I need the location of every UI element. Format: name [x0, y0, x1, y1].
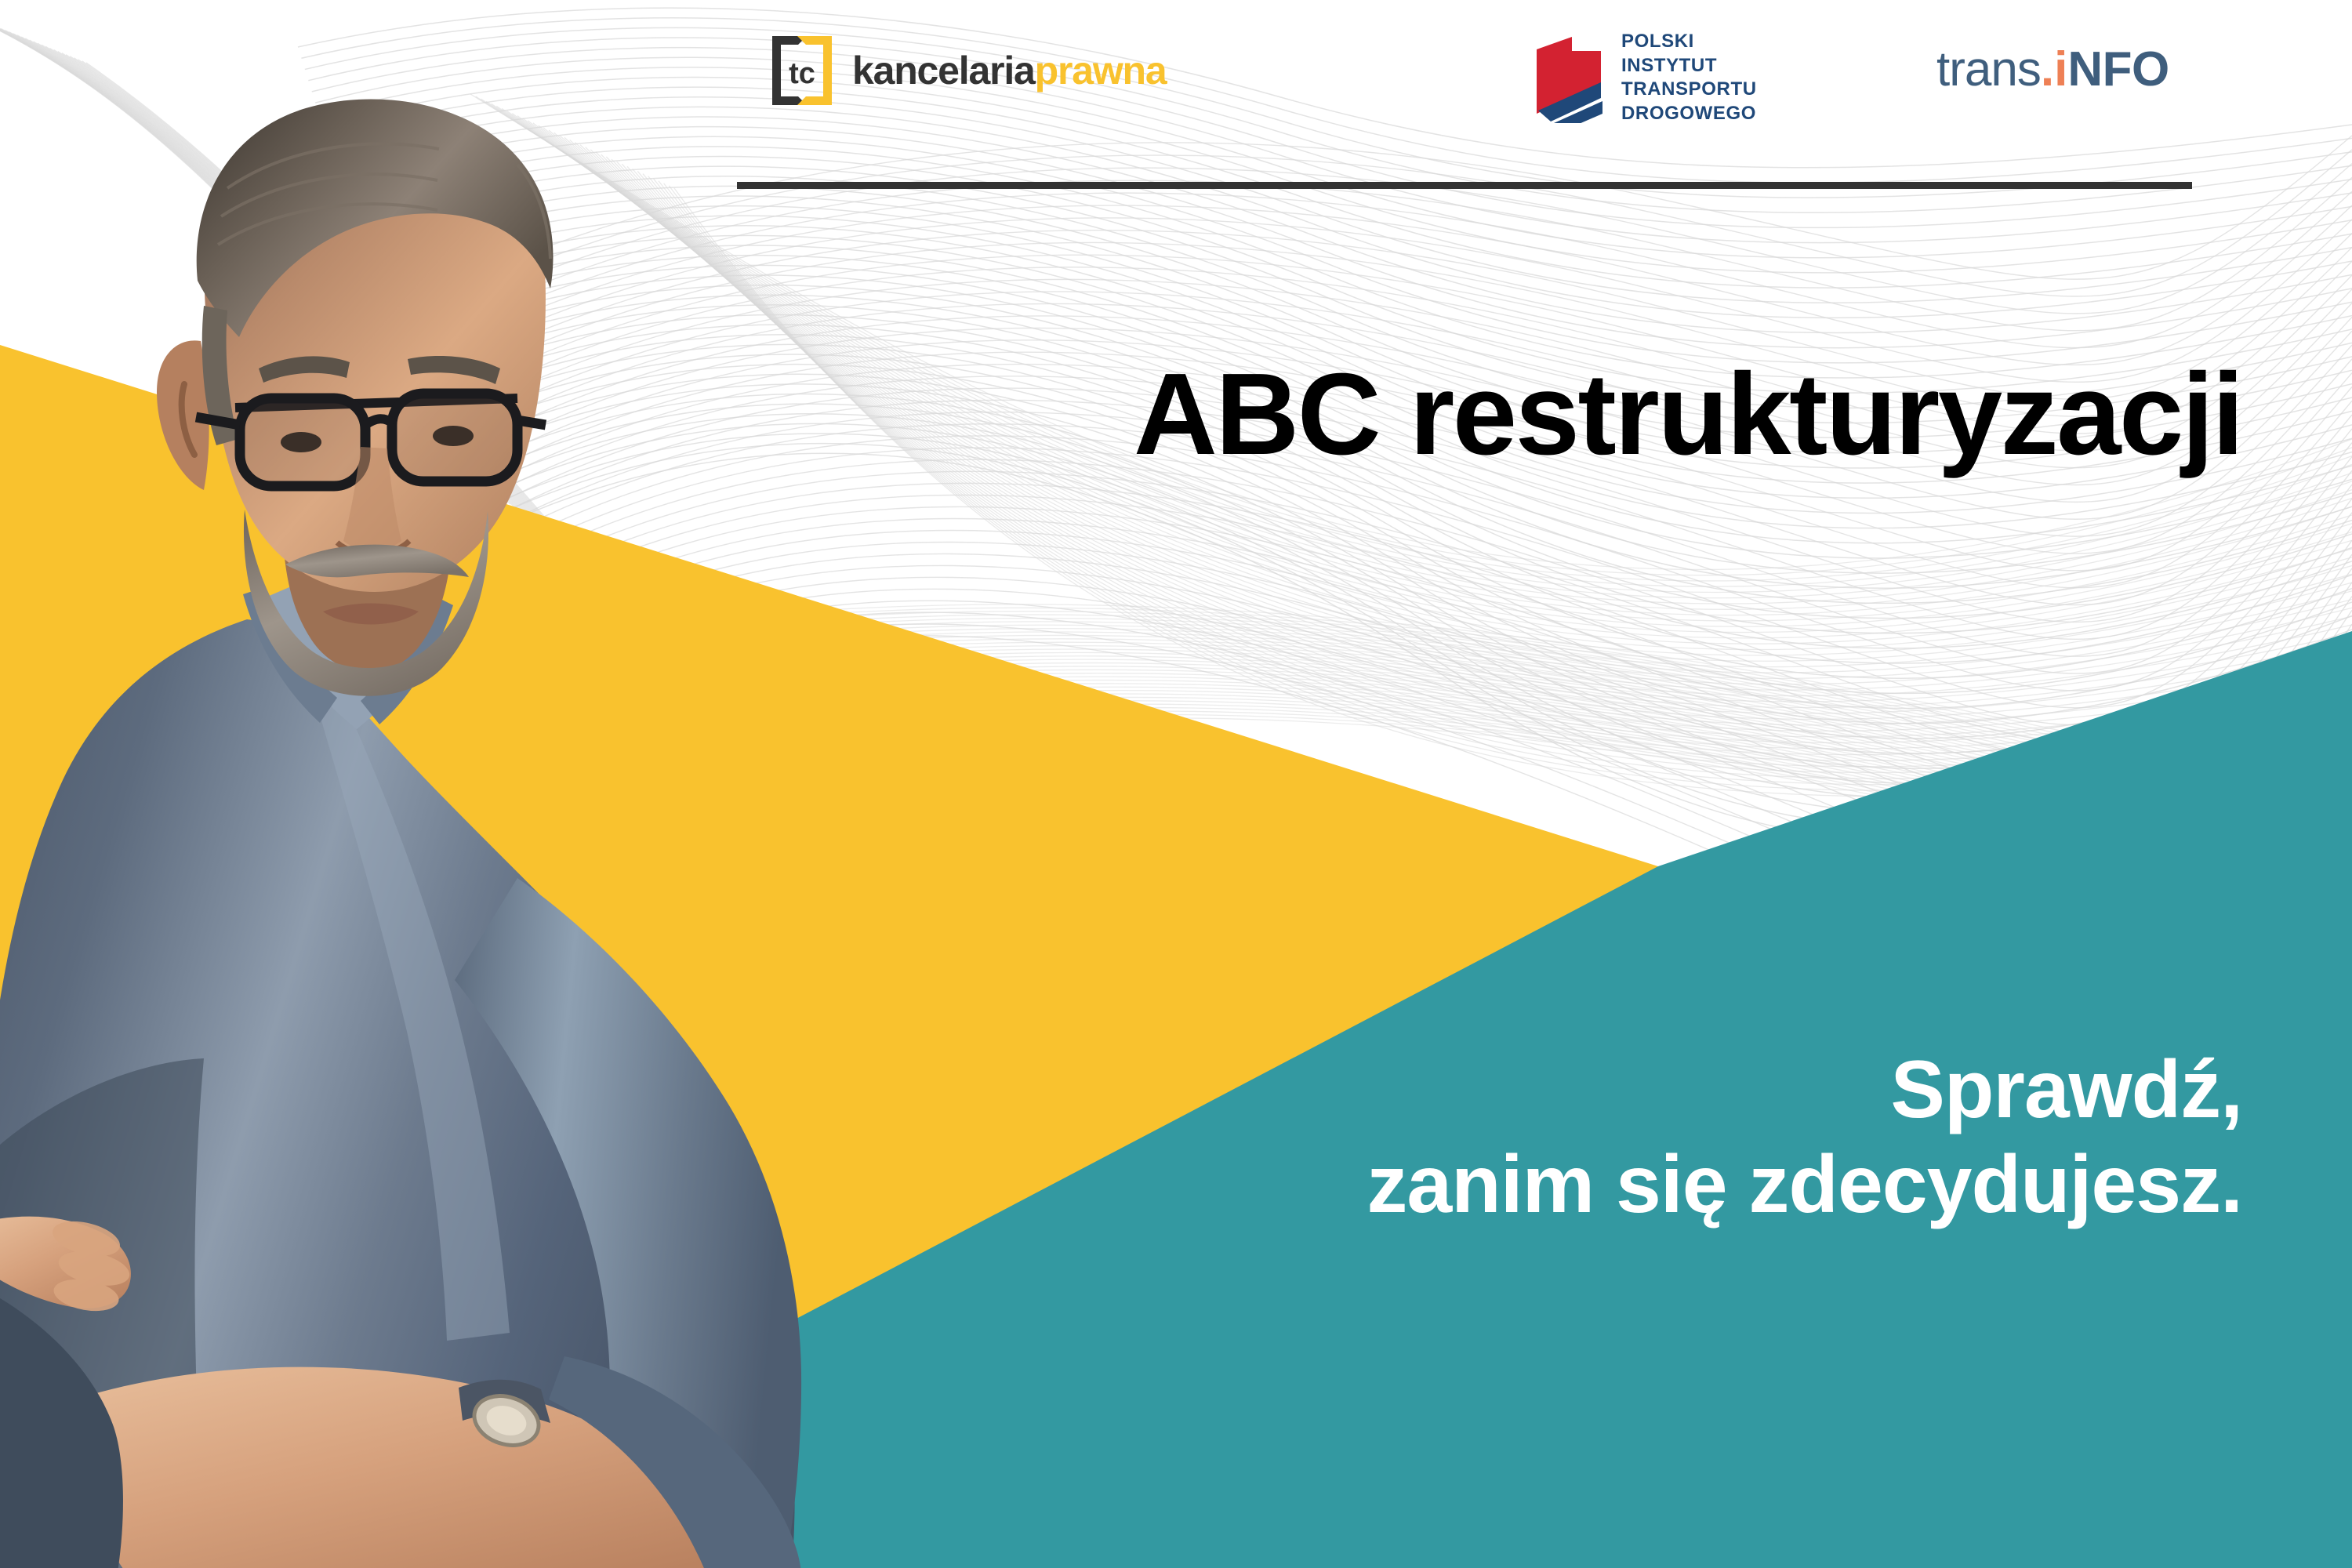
color-blocks: [0, 0, 2352, 1568]
promo-banner: tc kancelariaprawna POLSKI IN: [0, 0, 2352, 1568]
tc-mark-icon: tc: [772, 36, 832, 105]
svg-text:tc: tc: [789, 57, 815, 90]
pitd-line-2: INSTYTUT: [1621, 54, 1757, 78]
logo-row: tc kancelariaprawna POLSKI IN: [737, 30, 2195, 132]
logo-pitd[interactable]: POLSKI INSTYTUT TRANSPORTU DROGOWEGO: [1535, 30, 1757, 126]
logo-transinfo[interactable]: trans.iNFO: [1936, 45, 2169, 94]
header-divider: [737, 182, 2192, 189]
kancelaria-prawna-wordmark: kancelariaprawna: [852, 51, 1167, 90]
pitd-line-4: DROGOWEGO: [1621, 102, 1757, 126]
transinfo-i: i: [2054, 42, 2067, 96]
header: tc kancelariaprawna POLSKI IN: [0, 0, 2352, 196]
transinfo-nfo: NFO: [2067, 42, 2169, 96]
transinfo-dot: .: [2041, 42, 2054, 96]
pitd-wordmark: POLSKI INSTYTUT TRANSPORTU DROGOWEGO: [1621, 30, 1757, 126]
cta-line-1: Sprawdź,: [706, 1043, 2242, 1138]
cta-block: Sprawdź, zanim się zdecydujesz.: [706, 1043, 2242, 1232]
cta-line-2: zanim się zdecydujesz.: [706, 1138, 2242, 1232]
page-title: ABC restrukturyzacji: [0, 357, 2242, 473]
transinfo-trans: trans: [1936, 42, 2041, 96]
pitd-shield-icon: [1535, 32, 1602, 123]
kancelaria-word: kancelaria: [852, 49, 1035, 93]
pitd-line-1: POLSKI: [1621, 30, 1757, 54]
prawna-word: prawna: [1035, 49, 1167, 93]
logo-kancelaria-prawna[interactable]: tc kancelariaprawna: [772, 36, 1167, 105]
pitd-line-3: TRANSPORTU: [1621, 78, 1757, 102]
